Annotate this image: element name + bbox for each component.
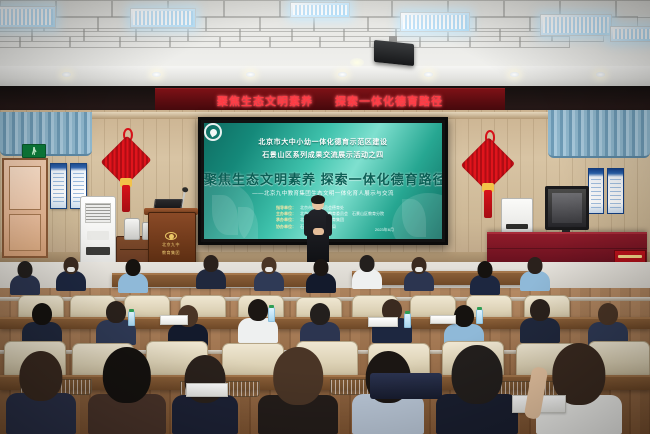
water-bottle xyxy=(404,313,411,328)
open-notebook xyxy=(430,315,456,324)
info-poster-1 xyxy=(50,163,67,209)
audience-torso xyxy=(56,271,86,291)
open-notebook xyxy=(160,315,188,325)
audience-member-foreground xyxy=(258,347,338,434)
audience-member-foreground xyxy=(6,351,76,434)
audience-member xyxy=(196,255,226,289)
monitor-screen xyxy=(552,193,582,223)
info-poster-4 xyxy=(607,168,624,214)
face-mask xyxy=(415,267,423,272)
audience-seating xyxy=(0,255,650,434)
bottle-cap xyxy=(405,311,410,314)
slide-date: 2023年6月 xyxy=(375,227,394,233)
audience-member-foreground xyxy=(88,347,166,434)
door-lower-pane xyxy=(9,214,41,251)
presenter-hair xyxy=(311,195,325,204)
audience-head xyxy=(32,303,52,325)
audience-torso xyxy=(118,273,148,293)
ac-outlet-grille xyxy=(86,247,110,255)
audience-torso xyxy=(404,271,434,291)
audience-head xyxy=(18,261,33,278)
audience-torso xyxy=(470,275,500,295)
lecture-hall-photo: 聚焦生态文明素养 探索一体化德育路径 xyxy=(0,0,650,434)
bottle-cap xyxy=(129,309,134,312)
audience-head xyxy=(598,303,618,325)
audience-head xyxy=(103,347,151,403)
audience-member xyxy=(254,257,284,291)
running-man-glyph xyxy=(32,147,37,155)
audience-head xyxy=(204,255,219,272)
audience-member-foreground xyxy=(536,343,622,434)
audience-member xyxy=(520,257,550,291)
ac-display-panel xyxy=(87,231,109,240)
presenter-arm-left xyxy=(304,214,310,236)
audience-torso xyxy=(196,269,226,289)
audience-member xyxy=(470,261,500,295)
audience-torso xyxy=(306,273,336,293)
notebook xyxy=(186,383,228,397)
audience-member xyxy=(118,259,148,293)
water-bottle xyxy=(268,307,275,322)
crest-mark-icon xyxy=(165,232,177,240)
presenter-hands xyxy=(313,228,324,235)
audience-torso xyxy=(352,269,382,289)
door-upper-pane xyxy=(9,166,41,210)
audience-member xyxy=(352,255,382,289)
crest-text: 北京九中 xyxy=(162,242,180,248)
slide-leaf-shape xyxy=(238,207,258,239)
control-monitor xyxy=(545,186,589,230)
open-notebook xyxy=(368,317,398,327)
emergency-exit-icon xyxy=(22,144,46,158)
audience-head xyxy=(528,257,543,274)
presenter-arm-right xyxy=(326,214,332,236)
audience-head xyxy=(19,351,62,401)
organizer-label: 协办单位： xyxy=(276,224,296,230)
audience-head xyxy=(530,299,550,321)
banner-right-text: 探索一体化德育路径 xyxy=(335,93,443,109)
bottle-cap xyxy=(269,305,274,308)
audience-member xyxy=(56,257,86,291)
banner-left-text: 聚焦生态文明素养 xyxy=(217,93,313,109)
audience-head xyxy=(314,259,329,276)
left-window-curtain xyxy=(0,112,92,156)
audience-member xyxy=(404,257,434,291)
audience-head xyxy=(454,305,474,327)
audience-head xyxy=(126,259,141,276)
audience-member-foreground xyxy=(436,345,518,434)
face-mask xyxy=(67,267,75,272)
slide-header-line-2: 石景山区系列成果交流展示活动之四 xyxy=(204,150,442,160)
knot-tassel xyxy=(122,185,130,212)
info-poster-3 xyxy=(588,168,604,214)
right-window-curtain xyxy=(548,110,650,158)
side-door[interactable] xyxy=(2,158,48,258)
podium-crest: 北京九中 教育集团 xyxy=(156,232,186,256)
audience-head xyxy=(478,261,493,278)
audience-head xyxy=(106,301,126,323)
slide-header-line-1: 北京市大中小幼一体化德育示范区建设 xyxy=(204,137,442,147)
audience-head xyxy=(273,347,323,405)
slide-main-title: 聚焦生态文明素养 探索一体化德育路径 xyxy=(204,169,442,188)
audience-torso xyxy=(254,271,284,291)
water-bottle xyxy=(476,309,483,324)
audience-member xyxy=(10,261,40,295)
audience-head xyxy=(452,345,503,404)
audience-torso xyxy=(520,318,560,343)
audience-head xyxy=(310,303,330,325)
left-chinese-knot-decoration xyxy=(102,128,150,212)
knot-tassel xyxy=(484,190,492,218)
backpack xyxy=(370,373,442,399)
equipment-slot xyxy=(506,224,528,229)
water-kettle xyxy=(124,218,140,240)
audience-member xyxy=(306,259,336,293)
audience-head xyxy=(360,255,375,272)
audience-head xyxy=(248,299,268,321)
bottle-cap xyxy=(477,307,482,310)
audience-torso xyxy=(10,275,40,295)
water-bottle xyxy=(128,311,135,326)
audience-member xyxy=(520,299,560,343)
audience-torso xyxy=(520,271,550,291)
face-mask xyxy=(265,267,273,272)
